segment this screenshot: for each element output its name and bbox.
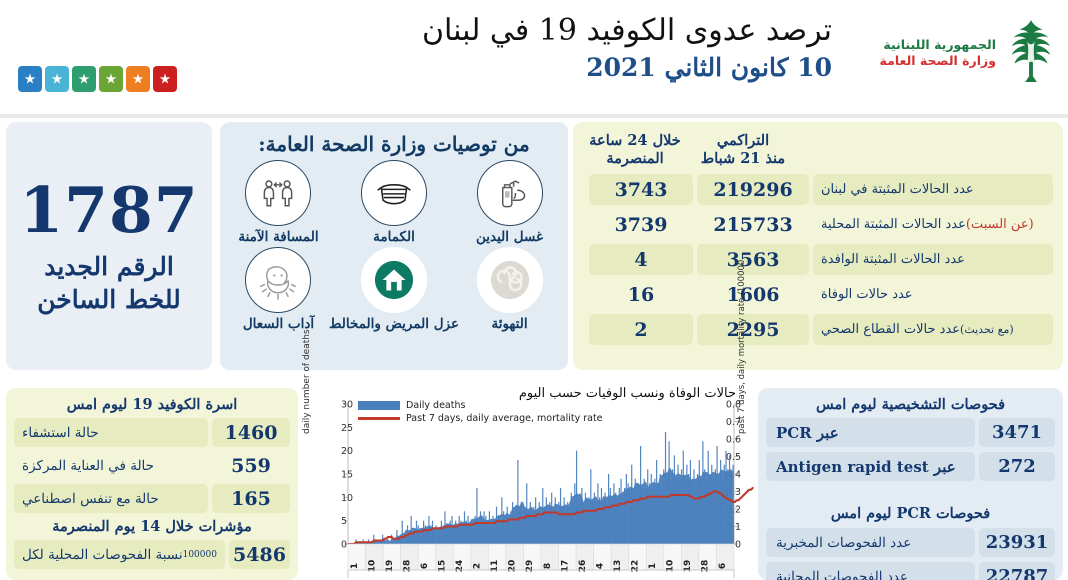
swatch-3 [72,66,96,92]
recommendation-item: التهوئة [459,247,560,332]
chart-plot-area: 05101520253000.10.20.30.40.50.60.70.8110… [302,386,754,580]
table-row: عدد حالات الوفاة 1606 16 [583,279,1053,310]
table-row: 22787 عدد الفحوصات المجانية [766,562,1055,580]
stats-header-last24h-line1: خلال 24 ساعة [583,132,687,150]
swatch-4 [45,66,69,92]
stats-row-cumulative: 3563 [697,244,809,275]
hotline-caption-line2: للخط الساخن [37,285,180,314]
cedar-tree-icon [1002,18,1060,88]
stats-row-last24h: 3739 [589,209,693,240]
stats-header-cumulative-line2: منذ 21 شباط [687,150,799,168]
stats-row-last24h: 16 [589,279,693,310]
indicator-row-label: 100000 نسبة الفحوصات المحلية لكل [14,540,225,569]
swatch-0 [153,66,177,92]
table-row: 3471 عبر PCR [766,418,1055,447]
beds-row-label: حالة مع تنفس اصطناعي [14,484,208,513]
beds-row-value: 165 [212,484,290,513]
tests-row-value: 272 [979,452,1055,481]
pcr-row-label: عدد الفحوصات المجانية [766,562,975,580]
recommendations-title: من توصيات وزارة الصحة العامة: [228,132,560,156]
beds-row-value: 559 [212,451,290,480]
stats-row-note: (عن السبت) [966,217,1034,232]
deaths-chart: حالات الوفاة ونسب الوفيات حسب اليوم Dail… [302,386,754,580]
recommendation-item: عزل المريض والمخالط [329,247,459,332]
stats-row-label: عدد الحالات المثبتة الوافدة [813,244,1053,275]
ventilation-icon [477,247,543,313]
recommendation-label: المسافة الآمنة [238,229,318,245]
stats-row-label-text: عدد حالات القطاع الصحي [821,322,960,337]
pcr-row-value: 23931 [979,528,1055,557]
table-row: (مع تحديث) عدد حالات القطاع الصحي 2295 2 [583,314,1053,345]
beds-row-label: حالة استشفاء [14,418,208,447]
pcr-row-label: عدد الفحوصات المخبرية [766,528,975,557]
recommendations-panel: من توصيات وزارة الصحة العامة: [220,122,568,370]
svg-text:0: 0 [735,540,741,551]
pcr-subpanel-title: فحوصات PCR ليوم امس [766,501,1055,528]
stats-header-last24h-line2: المنصرمة [583,150,687,168]
svg-text:2: 2 [473,563,483,569]
page-header: الجمهورية اللبنانية وزارة الصحة العامة ت… [0,0,1068,118]
recommendation-item: غسل اليدين [459,160,560,245]
svg-text:6: 6 [718,563,728,569]
tests-row-value: 3471 [979,418,1055,447]
table-row: 559 حالة في العناية المركزة [14,451,290,480]
header-divider [0,114,1068,118]
recommendations-grid: غسل اليدين الكمامة [228,160,560,332]
stats-row-label-text: عدد حالات الوفاة [821,287,913,302]
svg-text:25: 25 [341,423,353,434]
svg-text:10: 10 [341,493,353,504]
tests-panel: فحوصات التشخيصية ليوم امس 3471 عبر PCR 2… [758,388,1063,580]
svg-text:0.5: 0.5 [726,452,741,463]
beds-row-label: حالة في العناية المركزة [14,451,208,480]
stats-row-last24h: 4 [589,244,693,275]
swatch-5 [18,66,42,92]
svg-text:5: 5 [341,516,347,527]
stats-row-cumulative: 215733 [697,209,809,240]
pcr-subpanel: فحوصات PCR ليوم امس 23931 عدد الفحوصات ا… [758,501,1063,580]
stats-row-label-text: عدد الحالات المثبتة الوافدة [821,252,965,267]
logo-ministry-label: وزارة الصحة العامة [880,53,996,69]
stats-row-last24h: 3743 [589,174,693,205]
table-row: عدد الحالات المثبتة الوافدة 3563 4 [583,244,1053,275]
stats-row-label-text: عدد الحالات المثبتة المحلية [821,217,966,232]
home-isolation-icon [361,247,427,313]
table-row: 165 حالة مع تنفس اصطناعي [14,484,290,513]
svg-text:6: 6 [420,563,430,569]
svg-text:1: 1 [648,563,658,569]
svg-text:8: 8 [543,563,553,569]
recommendation-label: التهوئة [491,316,527,332]
ministry-logo: الجمهورية اللبنانية وزارة الصحة العامة [842,14,1060,92]
hand-sanitizer-icon [477,160,543,226]
pcr-row-value: 22787 [979,562,1055,580]
cough-etiquette-icon [245,247,311,313]
stats-table-header: التراكمي منذ 21 شباط خلال 24 ساعة المنصر… [583,130,1053,174]
svg-text:0.6: 0.6 [726,435,741,446]
indicator-row-value: 5486 [229,540,290,569]
svg-text:0.8: 0.8 [726,400,741,411]
indicator-row-unit: 100000 [183,550,217,560]
stats-row-label-text: عدد الحالات المثبتة في لبنان [821,182,974,197]
svg-text:4: 4 [595,563,605,569]
tests-panel-title: فحوصات التشخيصية ليوم امس [766,394,1055,418]
table-row: 1460 حالة استشفاء [14,418,290,447]
svg-text:30: 30 [341,400,353,411]
table-row: (عن السبت) عدد الحالات المثبتة المحلية 2… [583,209,1053,240]
stats-header-cumulative: التراكمي منذ 21 شباط [687,132,799,168]
recommendation-item: المسافة الآمنة [228,160,329,245]
hotline-panel: 1787 الرقم الجديد للخط الساخن [6,122,212,370]
svg-text:0.7: 0.7 [726,417,741,428]
color-swatch-strip [18,66,177,92]
tests-row-label: عبر Antigen rapid test [766,452,975,481]
swatch-2 [99,66,123,92]
hotline-number: 1787 [19,179,198,242]
table-row: 23931 عدد الفحوصات المخبرية [766,528,1055,557]
recommendation-item: آداب السعال [228,247,329,332]
stats-row-cumulative: 219296 [697,174,809,205]
stats-row-label: عدد حالات الوفاة [813,279,1053,310]
table-row: 272 عبر Antigen rapid test [766,452,1055,481]
beds-row-value: 1460 [212,418,290,447]
indicator-row-label-text: نسبة الفحوصات المحلية لكل [22,547,183,563]
stats-row-last24h: 2 [589,314,693,345]
page-title: ترصد عدوى الكوفيد 19 في لبنان [272,12,832,50]
table-row: عدد الحالات المثبتة في لبنان 219296 3743 [583,174,1053,205]
title-block: ترصد عدوى الكوفيد 19 في لبنان 10 كانون ا… [272,12,832,84]
stats-row-label: (عن السبت) عدد الحالات المثبتة المحلية [813,209,1053,240]
stats-row-cumulative: 1606 [697,279,809,310]
svg-text:0: 0 [341,540,347,551]
svg-text:1: 1 [350,563,360,569]
stats-row-label: عدد الحالات المثبتة في لبنان [813,174,1053,205]
stats-header-cumulative-line1: التراكمي [687,132,799,150]
indicators-subpanel: مؤشرات خلال 14 يوم المنصرمة 5486 100000 … [6,515,298,573]
report-date: 10 كانون الثاني 2021 [272,52,832,85]
svg-text:20: 20 [341,446,353,457]
hotline-caption-line1: الرقم الجديد [44,252,174,281]
hospital-beds-panel: اسرة الكوفيد 19 ليوم امس 1460 حالة استشف… [6,388,298,580]
face-mask-icon [361,160,427,226]
stats-row-cumulative: 2295 [697,314,809,345]
recommendation-label: غسل اليدين [476,229,543,245]
swatch-1 [126,66,150,92]
table-row: 5486 100000 نسبة الفحوصات المحلية لكل [6,540,298,569]
stats-table: التراكمي منذ 21 شباط خلال 24 ساعة المنصر… [573,122,1063,370]
recommendation-item: الكمامة [329,160,459,245]
social-distance-icon [245,160,311,226]
stats-row-label: (مع تحديث) عدد حالات القطاع الصحي [813,314,1053,345]
logo-country-label: الجمهورية اللبنانية [880,37,996,53]
stats-header-last24h: خلال 24 ساعة المنصرمة [583,132,687,168]
tests-row-label: عبر PCR [766,418,975,447]
stats-row-note: (مع تحديث) [960,323,1014,336]
indicators-title: مؤشرات خلال 14 يوم المنصرمة [6,515,298,540]
beds-panel-title: اسرة الكوفيد 19 ليوم امس [14,394,290,418]
recommendation-label: الكمامة [373,229,415,245]
recommendation-label: عزل المريض والمخالط [329,316,459,332]
svg-text:15: 15 [341,470,353,481]
